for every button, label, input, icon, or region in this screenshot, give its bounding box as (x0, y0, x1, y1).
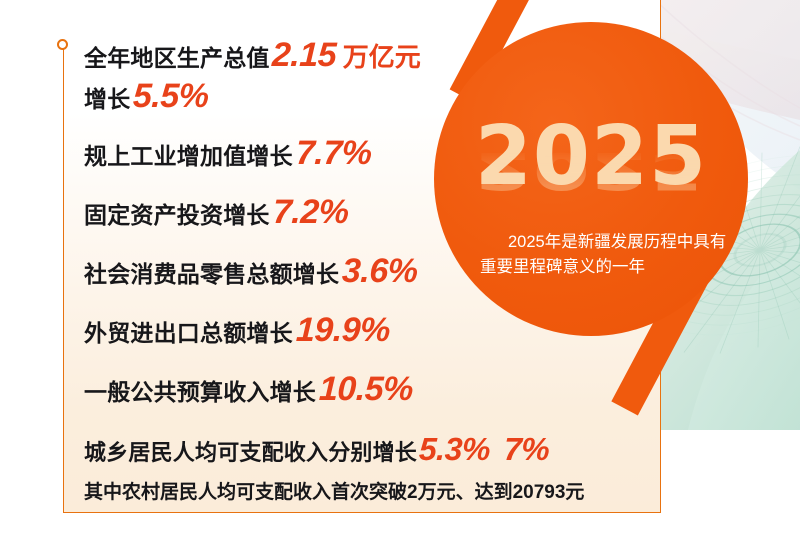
stat-label-industrial-value-added: 规上工业增加值增长 (84, 137, 293, 171)
stat-value-gdp-total: 2.15 (271, 36, 337, 75)
statistics-list: 全年地区生产总值 2.15 万亿元 增长 5.5% 规上工业增加值增长 7.7%… (84, 36, 644, 504)
stat-value-retail-sales: 3.6% (342, 252, 419, 291)
stat-row: 一般公共预算收入增长 10.5% (84, 370, 644, 409)
stat-row: 全年地区生产总值 2.15 万亿元 (84, 36, 644, 75)
panel-top-marker-dot (57, 39, 68, 50)
stat-label-fixed-asset-investment: 固定资产投资增长 (84, 196, 270, 230)
stat-label-gdp-total: 全年地区生产总值 (84, 39, 270, 73)
stat-row: 固定资产投资增长 7.2% (84, 193, 644, 232)
infographic-canvas: 2025 2025 2025年是新疆发展历程中具有重要里程碑意义的一年 全年地区… (0, 0, 800, 548)
stat-row: 城乡居民人均可支配收入分别增长 5.3% 7% (84, 431, 644, 468)
stat-value-gdp-growth: 5.5% (133, 77, 210, 116)
stat-row: 外贸进出口总额增长 19.9% (84, 311, 644, 350)
stat-note-rural-income: 其中农村居民人均可支配收入首次突破2万元、达到20793元 (84, 477, 584, 504)
stat-value-foreign-trade: 19.9% (295, 311, 390, 350)
stat-value-disposable-income-urban: 5.3% (418, 431, 490, 468)
panel-border-mask (59, 0, 67, 44)
stat-value-disposable-income-rural: 7% (503, 431, 550, 468)
stat-unit-gdp-total: 万亿元 (343, 37, 421, 74)
stat-label-public-budget-revenue: 一般公共预算收入增长 (84, 373, 316, 407)
stat-label-retail-sales: 社会消费品零售总额增长 (84, 255, 339, 289)
stat-row: 规上工业增加值增长 7.7% (84, 134, 644, 173)
stat-label-disposable-income: 城乡居民人均可支配收入分别增长 (84, 435, 417, 467)
stat-label-gdp-growth: 增长 (84, 80, 130, 114)
stat-row: 社会消费品零售总额增长 3.6% (84, 252, 644, 291)
stat-row: 增长 5.5% (84, 77, 644, 116)
stat-label-foreign-trade: 外贸进出口总额增长 (84, 314, 293, 348)
stat-value-fixed-asset-investment: 7.2% (272, 193, 349, 232)
stat-value-industrial-value-added: 7.7% (295, 134, 372, 173)
stat-row-note: 其中农村居民人均可支配收入首次突破2万元、达到20793元 (84, 477, 644, 504)
stat-value-public-budget-revenue: 10.5% (318, 370, 413, 409)
